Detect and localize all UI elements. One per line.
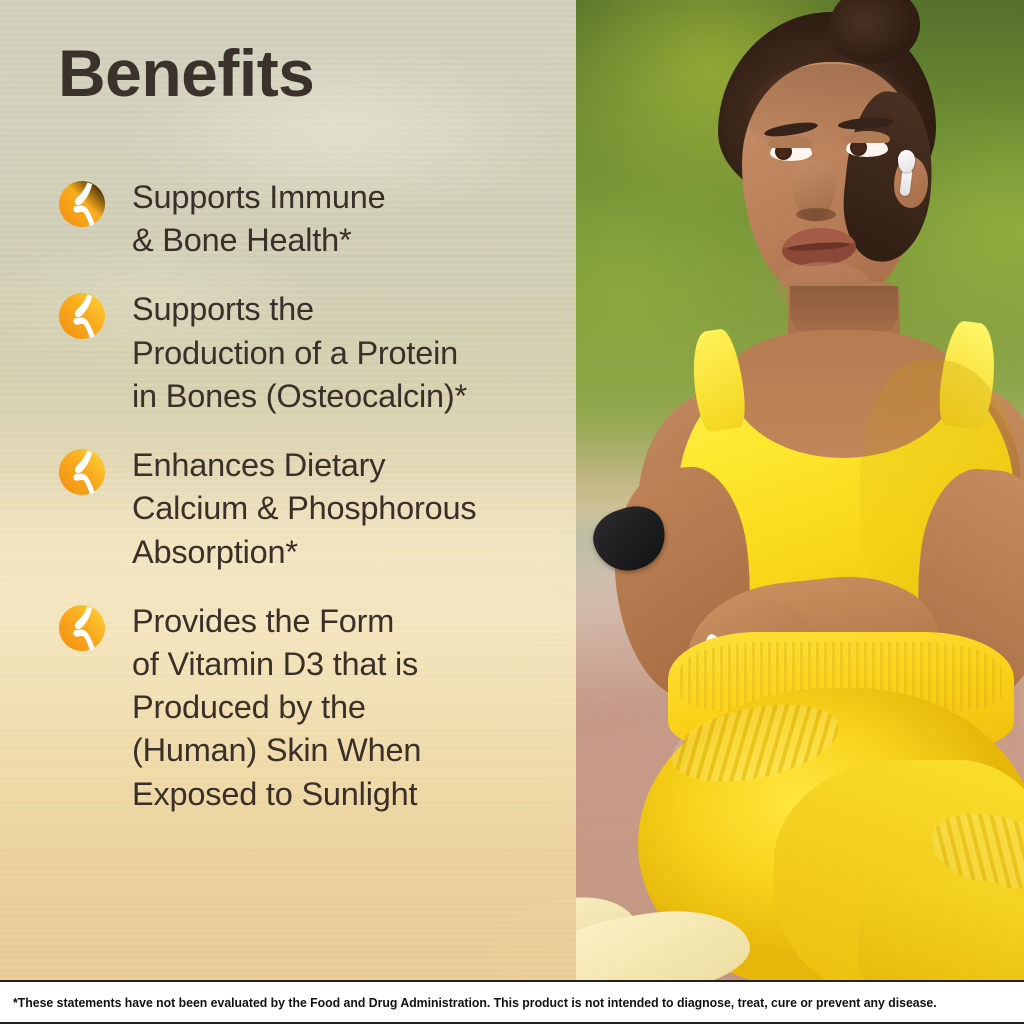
bone-joint-icon: [58, 180, 106, 228]
list-item: Supports the Production of a Protein in …: [58, 288, 558, 418]
list-item: Enhances Dietary Calcium & Phosphorous A…: [58, 444, 558, 574]
benefits-content: Benefits: [0, 0, 576, 984]
eyelid-left: [768, 136, 814, 148]
leggings-calf: [858, 880, 1024, 984]
bone-joint-icon: [58, 604, 106, 652]
page-title: Benefits: [58, 40, 314, 106]
infographic-canvas: Benefits: [0, 0, 1024, 1024]
eyelid-right: [844, 131, 890, 143]
bone-joint-icon: [58, 448, 106, 496]
list-item-label: Supports the Production of a Protein in …: [132, 288, 467, 418]
photo-subject-woman: [560, 0, 1024, 984]
list-item-label: Enhances Dietary Calcium & Phosphorous A…: [132, 444, 476, 574]
disclaimer-bar: *These statements have not been evaluate…: [0, 980, 1024, 1024]
list-item-label: Supports Immune & Bone Health*: [132, 176, 386, 262]
disclaimer-text: *These statements have not been evaluate…: [0, 995, 937, 1010]
nostrils: [796, 208, 836, 221]
list-item: Supports Immune & Bone Health*: [58, 176, 558, 262]
list-item-label: Provides the Form of Vitamin D3 that is …: [132, 600, 421, 816]
benefits-list: Supports Immune & Bone Health*: [58, 176, 558, 842]
list-item: Provides the Form of Vitamin D3 that is …: [58, 600, 558, 816]
earbud-icon: [898, 150, 915, 172]
bone-joint-icon: [58, 292, 106, 340]
